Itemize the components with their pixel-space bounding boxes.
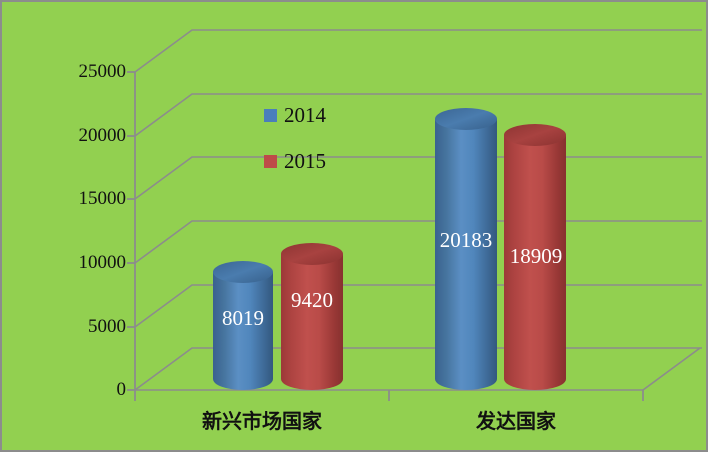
legend-label-2014: 2014 <box>284 105 326 126</box>
legend-item-2014[interactable]: 2014 <box>264 100 384 130</box>
legend-swatch-2014 <box>264 109 277 122</box>
bar-2015-developed[interactable] <box>504 124 566 390</box>
x-axis-ticks <box>135 390 643 401</box>
y-axis-labels: 25000 20000 15000 10000 5000 0 <box>2 2 126 452</box>
y-tick-25000: 25000 <box>79 62 127 81</box>
legend-item-2015[interactable]: 2015 <box>264 146 384 176</box>
y-tick-0: 0 <box>117 380 127 399</box>
bar-2014-developed[interactable] <box>435 108 497 390</box>
bar-2015-emerging[interactable] <box>281 243 343 390</box>
x-category-label-developed: 发达国家 <box>436 411 596 431</box>
x-category-label-emerging: 新兴市场国家 <box>182 411 342 431</box>
y-axis <box>127 72 135 391</box>
chart-legend: 2014 2015 <box>264 100 384 192</box>
chart-container: 25000 20000 15000 10000 5000 0 新兴市场国家 发达… <box>0 0 708 452</box>
legend-label-2015: 2015 <box>284 151 326 172</box>
y-tick-15000: 15000 <box>79 189 127 208</box>
y-tick-20000: 20000 <box>79 126 127 145</box>
bar-2014-emerging[interactable] <box>213 261 273 390</box>
y-tick-10000: 10000 <box>79 253 127 272</box>
y-tick-5000: 5000 <box>88 317 126 336</box>
legend-swatch-2015 <box>264 155 277 168</box>
